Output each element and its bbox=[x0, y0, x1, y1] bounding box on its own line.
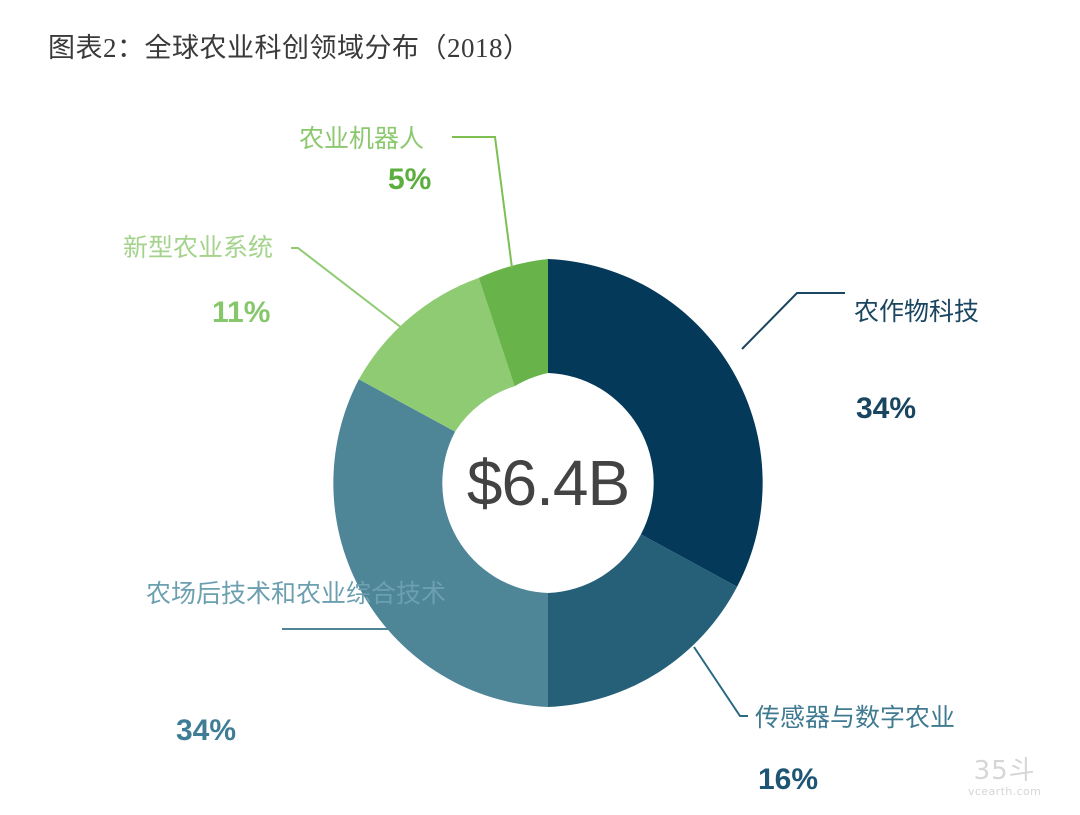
leader-line-sensors bbox=[694, 647, 748, 716]
slice-percent-crop-tech: 34% bbox=[856, 392, 916, 426]
leader-line-novel-systems bbox=[291, 248, 411, 335]
leader-line-crop-tech bbox=[742, 293, 845, 349]
leader-line-ag-robots bbox=[452, 137, 512, 268]
slice-percent-ag-robots: 5% bbox=[388, 163, 431, 197]
slice-postfarm[interactable] bbox=[333, 379, 548, 707]
slice-percent-novel-systems: 11% bbox=[212, 296, 270, 330]
slice-percent-postfarm: 34% bbox=[176, 714, 236, 748]
donut-chart bbox=[0, 0, 1080, 815]
slice-label-sensors: 传感器与数字农业 bbox=[755, 702, 955, 736]
slice-label-novel-systems: 新型农业系统 bbox=[123, 232, 273, 266]
slice-percent-sensors: 16% bbox=[758, 763, 818, 797]
slice-label-postfarm: 农场后技术和农业综合技术 bbox=[146, 578, 274, 612]
slice-crop-tech[interactable] bbox=[548, 259, 763, 587]
donut-segments bbox=[333, 259, 762, 707]
slice-label-crop-tech: 农作物科技 bbox=[854, 296, 979, 330]
slice-label-ag-robots: 农业机器人 bbox=[299, 123, 424, 157]
